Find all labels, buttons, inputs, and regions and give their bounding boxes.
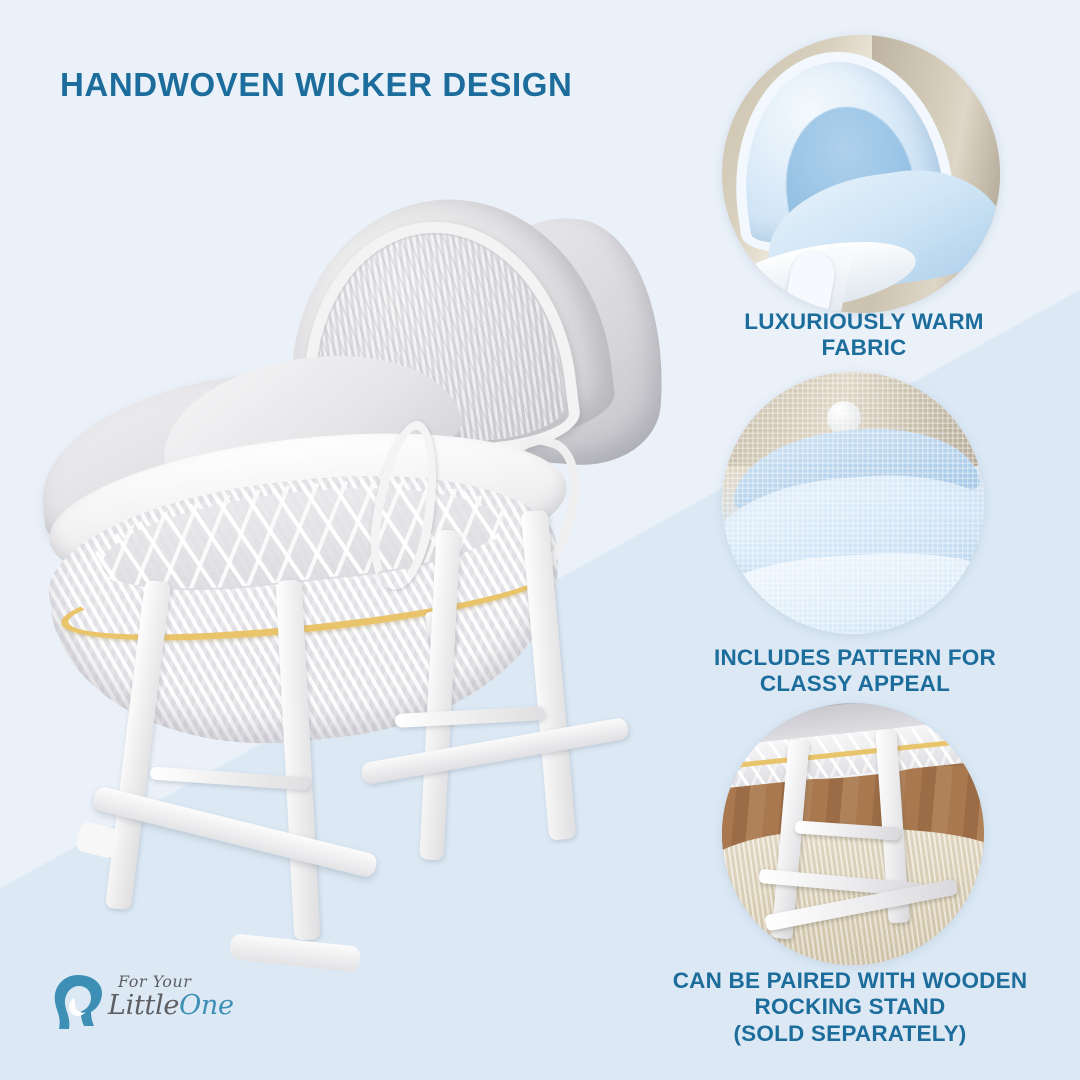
- logo-line-for-your: For Your: [118, 972, 191, 991]
- blue-waffle-fabric-closeup-photo: [722, 372, 984, 634]
- caption-line: LUXURIOUSLY WARM: [664, 309, 1064, 335]
- wooden-rocking-stand-on-rug-photo: [722, 703, 984, 965]
- brand-logo-text: For Your LittleOne: [108, 970, 268, 1032]
- caption-line: (SOLD SEPARATELY): [650, 1021, 1050, 1047]
- feature-caption-3: CAN BE PAIRED WITH WOODEN ROCKING STAND …: [650, 968, 1050, 1047]
- logo-word-little: Little: [108, 990, 179, 1021]
- feature-caption-1: LUXURIOUSLY WARM FABRIC: [664, 309, 1064, 362]
- logo-line-little-one: LittleOne: [108, 990, 234, 1021]
- hero-product-image: [30, 180, 650, 970]
- page-title: HANDWOVEN WICKER DESIGN: [60, 66, 572, 104]
- logo-word-one: One: [179, 990, 234, 1021]
- caption-line: INCLUDES PATTERN FOR: [655, 645, 1055, 671]
- caption-line: FABRIC: [664, 335, 1064, 361]
- feature-caption-2: INCLUDES PATTERN FOR CLASSY APPEAL: [655, 645, 1055, 698]
- stand-foot-right: [229, 933, 361, 972]
- brand-logo: For Your LittleOne: [48, 968, 268, 1038]
- caption-line: CLASSY APPEAL: [655, 671, 1055, 697]
- stand-leg-back-right: [521, 509, 577, 840]
- caption-line: ROCKING STAND: [650, 994, 1050, 1020]
- caption-line: CAN BE PAIRED WITH WOODEN: [650, 968, 1050, 994]
- mother-and-baby-icon: [48, 972, 104, 1032]
- blue-hooded-moses-basket-photo: [722, 35, 1000, 313]
